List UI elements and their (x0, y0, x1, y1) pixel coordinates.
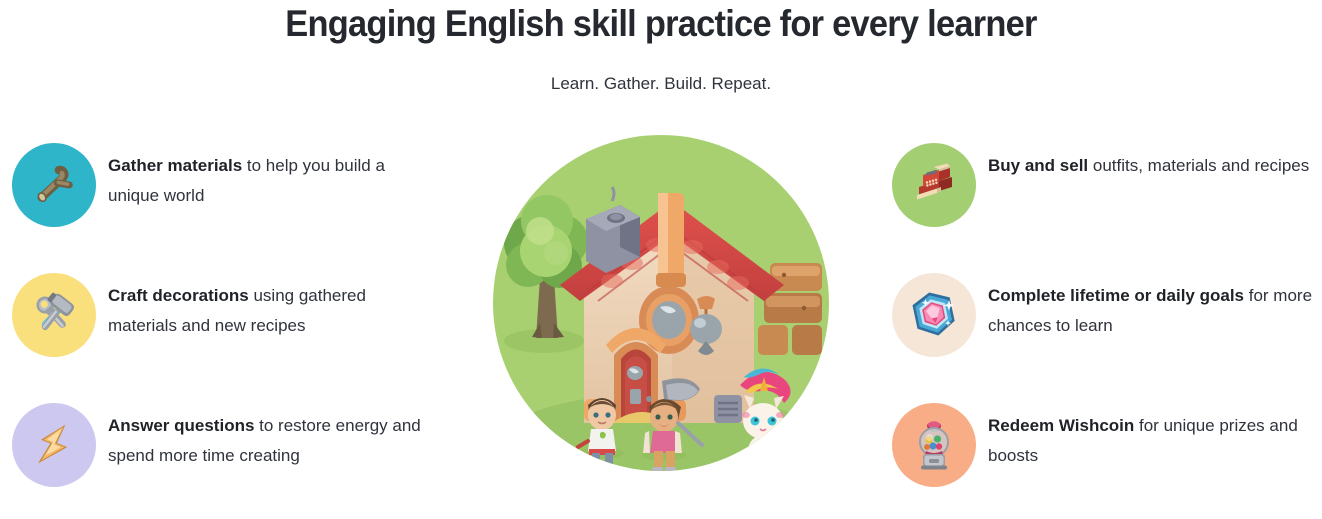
gumball-machine-icon (892, 403, 976, 487)
feature-text: Buy and sell outfits, materials and reci… (988, 151, 1318, 181)
feature-bold-label: Complete lifetime or daily goals (988, 286, 1244, 305)
feature-rest-label: outfits, materials and recipes (1088, 156, 1309, 175)
cash-register-icon (892, 143, 976, 227)
feature-overview-page: Engaging English skill practice for ever… (0, 0, 1322, 519)
feature-text: Complete lifetime or daily goals for mor… (988, 281, 1318, 341)
feature-item-redeem-wishcoin: Redeem Wishcoin for unique prizes and bo… (880, 394, 1320, 519)
hammer-and-wrench-icon (12, 273, 96, 357)
feature-text: Redeem Wishcoin for unique prizes and bo… (988, 411, 1318, 471)
feature-list-left: Gather materials to help you build a uni… (0, 134, 440, 519)
feature-item-answer-questions: Answer questions to restore energy and s… (0, 394, 440, 519)
village-cottage-illustration (492, 123, 830, 483)
feature-list-right: Buy and sell outfits, materials and reci… (880, 134, 1320, 519)
gem-badge-icon (892, 273, 976, 357)
feature-item-complete-goals: Complete lifetime or daily goals for mor… (880, 264, 1320, 394)
feature-bold-label: Craft decorations (108, 286, 249, 305)
page-title: Engaging English skill practice for ever… (46, 2, 1275, 46)
vent (714, 395, 742, 423)
feature-bold-label: Redeem Wishcoin (988, 416, 1134, 435)
unicorn-cat-character (738, 368, 791, 471)
feature-bold-label: Gather materials (108, 156, 242, 175)
lightning-bolt-icon (12, 403, 96, 487)
feature-item-craft-decorations: Craft decorations using gathered materia… (0, 264, 440, 394)
feature-text: Answer questions to restore energy and s… (108, 411, 438, 471)
feature-bold-label: Buy and sell (988, 156, 1088, 175)
page-subtitle: Learn. Gather. Build. Repeat. (0, 72, 1322, 96)
feature-text: Craft decorations using gathered materia… (108, 281, 438, 341)
feature-item-buy-and-sell: Buy and sell outfits, materials and reci… (880, 134, 1320, 264)
round-window (639, 286, 699, 354)
feature-bold-label: Answer questions (108, 416, 254, 435)
feature-item-gather-materials: Gather materials to help you build a uni… (0, 134, 440, 264)
feature-text: Gather materials to help you build a uni… (108, 151, 438, 211)
wooden-stick-icon (12, 143, 96, 227)
